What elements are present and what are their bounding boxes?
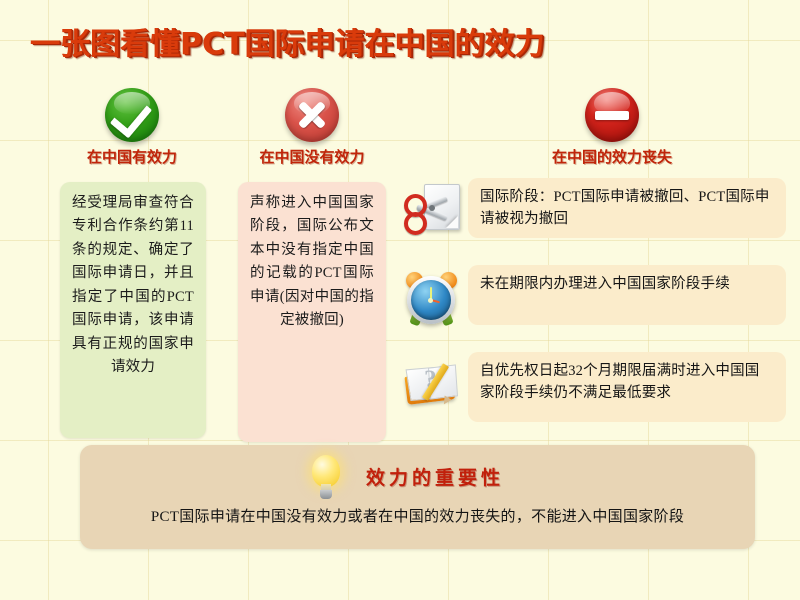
- list-item-text: 自优先权日起32个月期限届满时进入中国国家阶段手续仍不满足最低要求: [468, 352, 786, 422]
- column-heading-lost: 在中国的效力丧失: [512, 146, 712, 167]
- clock-hub: [428, 298, 433, 303]
- green-check-circle-icon: [105, 88, 159, 142]
- panel-invalid-body: 声称进入中国国家阶段，国际公布文本中没有指定中国的记载的PCT国际申请(因对中国…: [238, 182, 386, 442]
- list-item-text: 国际阶段：PCT国际申请被撤回、PCT国际申请被视为撤回: [468, 178, 786, 238]
- scissors-paper-icon: [402, 180, 464, 240]
- notebook-pencil-icon: ?: [402, 354, 464, 414]
- panel-valid-body: 经受理局审查符合专利合作条约第11条的规定、确定了国际申请日，并且指定了中国的P…: [60, 182, 206, 438]
- check-mark-glyph: [110, 95, 152, 139]
- paper-fold-shape: [446, 216, 458, 228]
- lightbulb-icon: [306, 453, 346, 501]
- bulb-glass: [312, 455, 340, 487]
- page-title: 一张图看懂PCT国际申请在中国的效力: [30, 30, 544, 60]
- column-heading-invalid: 在中国没有效力: [232, 146, 392, 167]
- scissors-ring-lower: [404, 212, 427, 235]
- no-entry-bar: [595, 111, 629, 120]
- bulb-base: [320, 490, 332, 499]
- summary-body: PCT国际申请在中国没有效力或者在中国的效力丧失的，不能进入中国国家阶段: [80, 505, 755, 526]
- list-item-text: 未在期限内办理进入中国国家阶段手续: [468, 265, 786, 325]
- red-no-entry-icon: [585, 88, 639, 142]
- infographic-canvas: 一张图看懂PCT国际申请在中国的效力 在中国有效力 经受理局审查符合专利合作条约…: [0, 0, 800, 600]
- scissors-pivot: [429, 205, 435, 211]
- summary-panel: 效力的重要性 PCT国际申请在中国没有效力或者在中国的效力丧失的，不能进入中国国…: [80, 445, 755, 549]
- column-heading-valid: 在中国有效力: [52, 146, 212, 167]
- summary-heading: 效力的重要性: [366, 463, 504, 490]
- list-item: ? 自优先权日起32个月期限届满时进入中国国家阶段手续仍不满足最低要求: [400, 352, 790, 420]
- list-item: 国际阶段：PCT国际申请被撤回、PCT国际申请被视为撤回: [400, 178, 790, 246]
- list-item: 未在期限内办理进入中国国家阶段手续: [400, 265, 790, 333]
- alarm-clock-icon: [402, 267, 464, 327]
- red-cross-circle-icon: [285, 88, 339, 142]
